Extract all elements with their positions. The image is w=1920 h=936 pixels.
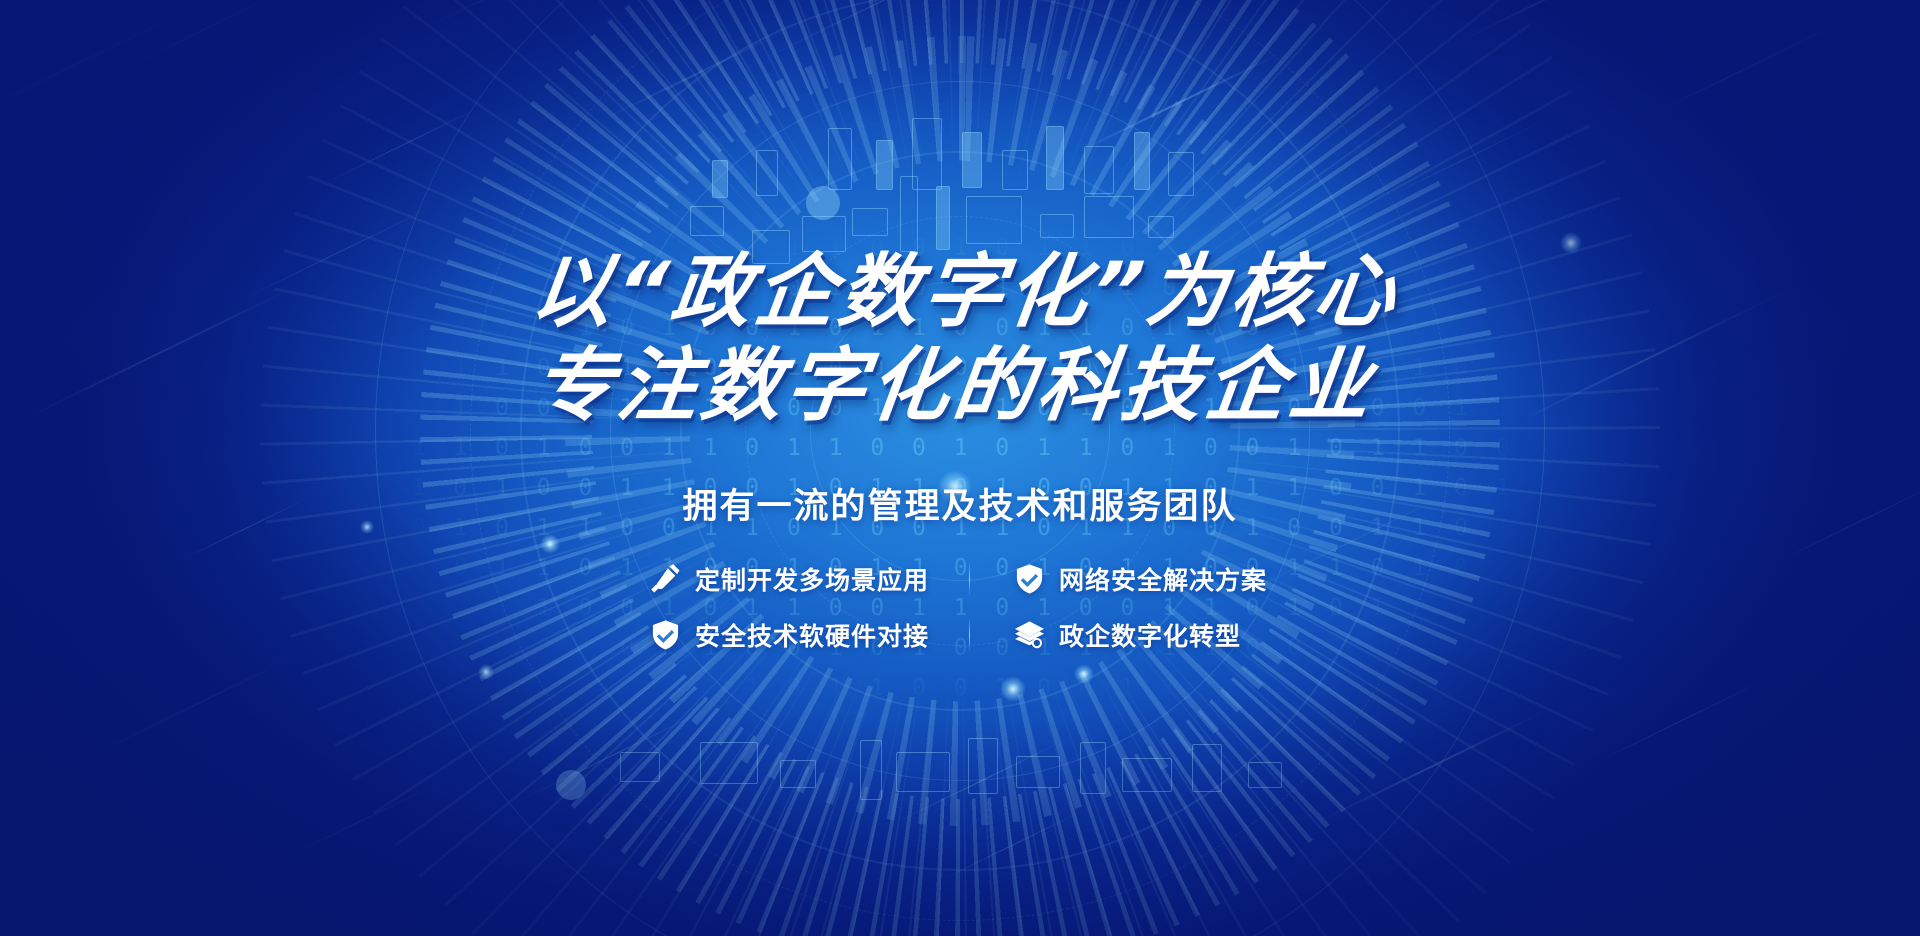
feature-label: 定制开发多场景应用 <box>695 561 929 597</box>
shield-check-icon <box>650 619 681 650</box>
feature-label: 政企数字化转型 <box>1059 617 1241 653</box>
feature-list: 定制开发多场景应用 网络安全解决方案 <box>650 561 1270 653</box>
headline-line-1: 以“政企数字化”为核心 <box>527 249 1405 335</box>
feature-label: 网络安全解决方案 <box>1059 561 1267 597</box>
feature-item-security-integration[interactable]: 安全技术软硬件对接 <box>650 617 969 653</box>
feature-item-custom-development[interactable]: 定制开发多场景应用 <box>650 561 969 597</box>
page-title: 以“政企数字化”为核心 专注数字化的科技企业 <box>515 249 1404 430</box>
banner-subtitle: 拥有一流的管理及技术和服务团队 <box>682 478 1237 529</box>
shield-check-icon <box>1014 563 1045 594</box>
hero-banner: 1 0 0 1 1 0 1 0 0 1 1 1 0 0 1 0 1 1 0 0 … <box>0 0 1920 936</box>
banner-content: 以“政企数字化”为核心 专注数字化的科技企业 拥有一流的管理及技术和服务团队 <box>0 0 1920 936</box>
feature-item-network-security[interactable]: 网络安全解决方案 <box>970 561 1270 597</box>
feature-item-digital-transformation[interactable]: 政企数字化转型 <box>970 617 1270 653</box>
feature-label: 安全技术软硬件对接 <box>695 617 929 653</box>
pen-edit-icon <box>650 563 681 594</box>
headline-line-2: 专注数字化的科技企业 <box>515 344 1393 430</box>
layers-icon <box>1014 619 1045 650</box>
